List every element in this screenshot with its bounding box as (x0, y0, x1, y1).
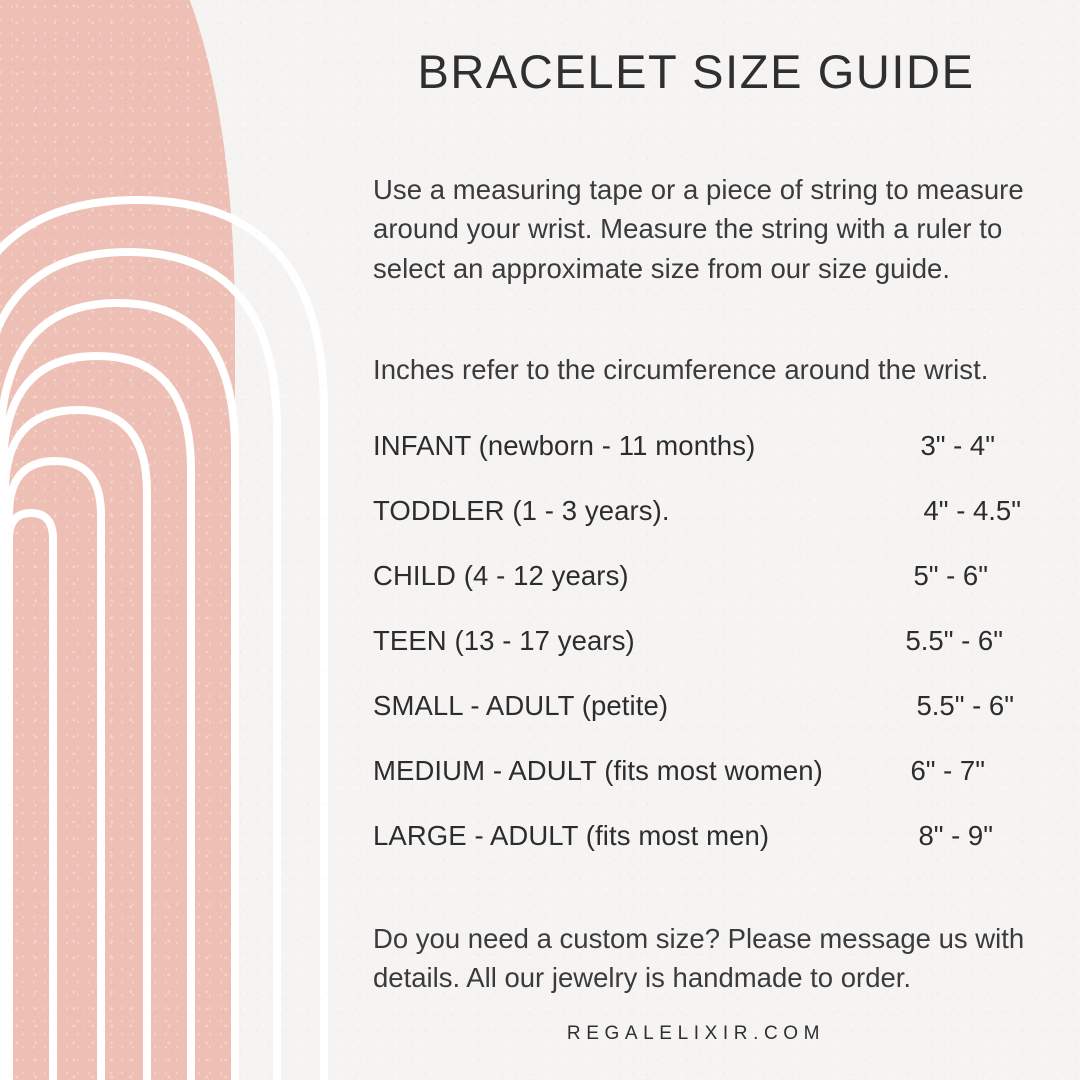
website-footer: REGALELIXIR.COM (366, 1023, 1026, 1045)
size-label: INFANT (newborn - 11 months) (373, 430, 755, 462)
table-row: MEDIUM - ADULT (fits most women) 6" - 7" (373, 755, 1021, 820)
arch-pink-fill (0, 0, 235, 1080)
size-label: LARGE - ADULT (fits most men) (373, 820, 769, 852)
table-row: INFANT (newborn - 11 months) 3" - 4" (373, 430, 1021, 495)
size-label: SMALL - ADULT (petite) (373, 690, 668, 722)
size-label: MEDIUM - ADULT (fits most women) (373, 755, 823, 787)
size-table: INFANT (newborn - 11 months) 3" - 4" TOD… (373, 430, 1021, 885)
intro-paragraph-1: Use a measuring tape or a piece of strin… (373, 170, 1028, 289)
size-label: CHILD (4 - 12 years) (373, 560, 629, 592)
page-title: BRACELET SIZE GUIDE (366, 44, 1026, 99)
size-value: 5.5" - 6" (917, 690, 1015, 722)
table-row: LARGE - ADULT (fits most men) 8" - 9" (373, 820, 1021, 885)
arch-svg (0, 0, 360, 1080)
size-value: 5" - 6" (913, 560, 988, 592)
size-label: TODDLER (1 - 3 years). (373, 495, 670, 527)
size-value: 8" - 9" (918, 820, 993, 852)
concentric-arch-illustration (0, 0, 360, 1080)
size-value: 6" - 7" (910, 755, 985, 787)
content-column: BRACELET SIZE GUIDE Use a measuring tape… (373, 0, 1033, 1080)
table-row: CHILD (4 - 12 years) 5" - 6" (373, 560, 1021, 625)
table-row: TEEN (13 - 17 years) 5.5" - 6" (373, 625, 1021, 690)
intro-paragraph-2: Inches refer to the circumference around… (373, 350, 1028, 390)
size-value: 4" - 4.5" (924, 495, 1022, 527)
poster-canvas: BRACELET SIZE GUIDE Use a measuring tape… (0, 0, 1080, 1080)
size-value: 3" - 4" (920, 430, 995, 462)
outro-paragraph: Do you need a custom size? Please messag… (373, 919, 1035, 998)
table-row: TODDLER (1 - 3 years). 4" - 4.5" (373, 495, 1021, 560)
size-label: TEEN (13 - 17 years) (373, 625, 635, 657)
size-value: 5.5" - 6" (906, 625, 1004, 657)
table-row: SMALL - ADULT (petite) 5.5" - 6" (373, 690, 1021, 755)
